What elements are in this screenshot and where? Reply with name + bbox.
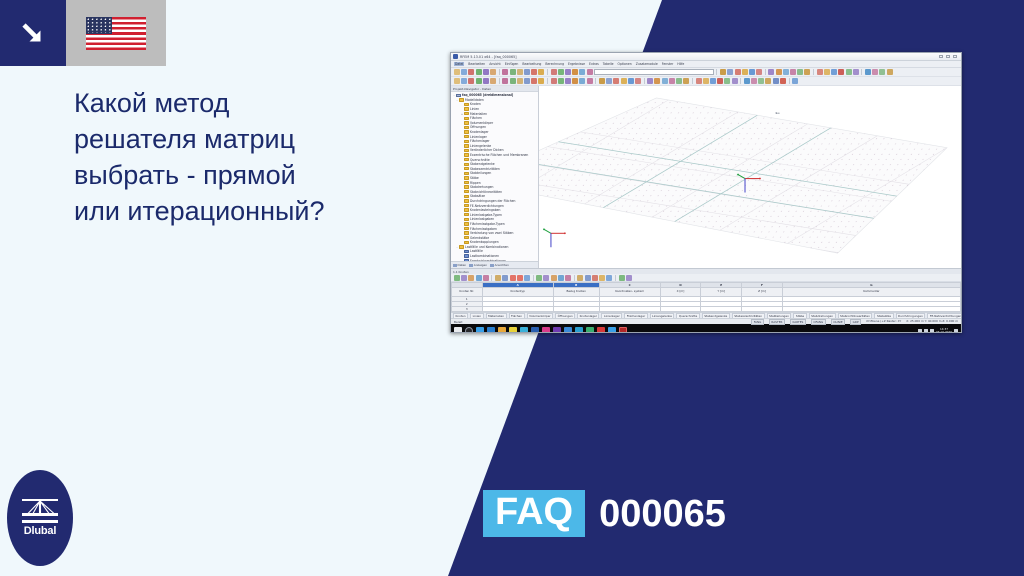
folder-icon (464, 218, 469, 221)
tree-item-label: Öffnungen (470, 125, 486, 129)
menu-item-berechnung[interactable]: Berechnung (545, 62, 564, 66)
toolbar-button-22[interactable] (720, 69, 726, 75)
toolbar-button-43[interactable] (744, 78, 750, 84)
module-icon (464, 254, 469, 257)
tree-item-label: Lastfälle (470, 249, 483, 253)
toolbar-button-6[interactable] (490, 69, 496, 75)
search-icon[interactable] (465, 327, 473, 334)
toolbar-button-9[interactable] (510, 69, 516, 75)
chevron-up-icon[interactable] (918, 329, 922, 333)
toolbar-separator (789, 78, 790, 84)
folder-icon (464, 204, 469, 207)
tree-item-label: Stabteilungen (470, 171, 491, 175)
taskbar-outlook-icon[interactable] (575, 327, 583, 334)
status-toggle-fang[interactable]: FANG (751, 319, 764, 325)
toolbar-button-23[interactable] (727, 69, 733, 75)
taskbar-cortana-icon[interactable] (476, 327, 484, 334)
navigator-tab-anzeigen[interactable]: Anzeigen (469, 263, 487, 267)
toolbar-button-10[interactable] (517, 78, 523, 84)
table-toolbar-button-10[interactable] (517, 275, 523, 281)
sheet-tab[interactable]: Stabnichtlinearitäten (838, 313, 873, 319)
sheet-tab[interactable]: Öffnungen (555, 313, 575, 319)
toolbar-button-30[interactable] (776, 69, 782, 75)
tree-item-label: Knoten (470, 102, 481, 106)
table-toolbar-button-13[interactable] (536, 275, 542, 281)
toolbar-button-37[interactable] (824, 69, 830, 75)
viewport-grid (539, 86, 961, 267)
status-toggle-olinie[interactable]: OLINIE (831, 319, 845, 325)
load-case-combo[interactable] (594, 69, 714, 75)
toolbar-button-25[interactable] (742, 69, 748, 75)
tree-item-label: Flächenlager (470, 139, 490, 143)
rfem-screenshot-window: RFEM 5.13.01 x64 - [faq_000065] DateiBea… (450, 52, 962, 333)
taskbar-photos-icon[interactable] (553, 327, 561, 334)
toolbar-button-33[interactable] (676, 78, 682, 84)
toolbar-button-17[interactable] (565, 69, 571, 75)
sheet-tab[interactable]: Stabsätze (874, 313, 893, 319)
toolbar-button-6[interactable] (490, 78, 496, 84)
toolbar-button-46[interactable] (887, 69, 893, 75)
menu-item-extras[interactable]: Extras (589, 62, 599, 66)
toolbar-button-19[interactable] (579, 69, 585, 75)
taskbar-mail-icon[interactable] (531, 327, 539, 334)
tree-item-label: faq_000065 [dreidimensional] (462, 93, 513, 97)
sheet-tab[interactable]: Materialien (486, 313, 507, 319)
tree-item[interactable]: Exzentrische Flächen und Membranen (452, 153, 538, 158)
table-toolbar-separator (615, 275, 616, 281)
rfem-app-icon (453, 54, 458, 59)
menu-item-hilfe[interactable]: Hilfe (677, 62, 684, 66)
sheet-tab[interactable]: Flächen (509, 313, 525, 319)
menu-item-einfgen[interactable]: Einfügen (505, 62, 519, 66)
dlubal-logo: Dlubal (7, 470, 73, 566)
sheet-tab[interactable]: Stabdrehungen (809, 313, 836, 319)
toolbar-button-24[interactable] (613, 78, 619, 84)
minimize-icon[interactable] (939, 55, 943, 58)
status-right-group[interactable]: FANGRASTERKARTESOFANGOLINIEGRPXY-Ebene (… (751, 319, 958, 325)
toolbar-button-36[interactable] (696, 78, 702, 84)
folder-icon (464, 236, 469, 239)
module-icon (464, 250, 469, 253)
sheet-tab[interactable]: Durchdringungen (896, 313, 926, 319)
data-grid[interactable]: ABCDEFGKnoten Nr.KnotentypBezug KnotenKo… (451, 282, 961, 312)
menu-item-ansicht[interactable]: Ansicht (489, 62, 500, 66)
dlubal-wordmark: Dlubal (24, 525, 56, 537)
folder-icon (464, 199, 469, 202)
grid-cell[interactable] (482, 307, 553, 312)
taskbar-recorder-icon[interactable] (619, 327, 627, 334)
toolbar-separator (644, 78, 645, 84)
toolbar-button-8[interactable] (502, 78, 508, 84)
sheet-tab[interactable]: Liniengelenke (650, 313, 675, 319)
grid-column-header: Koordinaten- system (599, 288, 660, 297)
network-icon[interactable] (924, 329, 928, 333)
toolbar-button-40[interactable] (846, 69, 852, 75)
toolbar-button-26[interactable] (628, 78, 634, 84)
window-controls[interactable] (939, 55, 959, 58)
tree-item-label: Linien (470, 107, 479, 111)
folder-icon (464, 140, 469, 143)
toolbar-button-34[interactable] (804, 69, 810, 75)
sheet-tab[interactable]: FE-Netzverdichtungen (927, 313, 961, 319)
tree-item-label: Verbindung von zwei Stäben (470, 231, 513, 235)
toolbar-button-11[interactable] (524, 78, 530, 84)
sheet-tab[interactable]: Knoten (453, 313, 468, 319)
tree-item-label: Flächen (470, 116, 482, 120)
tree-item-label: Linienlastgaben (470, 217, 494, 221)
taskbar-settings-icon[interactable] (608, 327, 616, 334)
table-toolbar-button-3[interactable] (468, 275, 474, 281)
toolbar-button-12[interactable] (531, 78, 537, 84)
table-toolbar-button-4[interactable] (476, 275, 482, 281)
toolbar-button-4[interactable] (476, 69, 482, 75)
status-info: X: 25.000 m Y: 40.000 m Z: 0.000 m (906, 319, 958, 325)
toolbar-button-2[interactable] (461, 78, 467, 84)
question-line-4: или итерационный? (74, 194, 464, 230)
table-toolbar-button-11[interactable] (524, 275, 530, 281)
table-toolbar-button-9[interactable] (510, 275, 516, 281)
menu-item-ergebnisse[interactable]: Ergebnisse (568, 62, 585, 66)
taskbar-paint-icon[interactable] (564, 327, 572, 334)
table-toolbar-button-5[interactable] (483, 275, 489, 281)
arrow-down-right-icon (0, 0, 66, 66)
table-toolbar[interactable] (451, 274, 961, 282)
tree-item-label: Materialien (470, 112, 487, 116)
rfem-main-area: Projekt-Navigator - Daten -faq_000065 [d… (451, 86, 961, 268)
toolbar-button-32[interactable] (669, 78, 675, 84)
sheet-tab[interactable]: Stabendgelenke (702, 313, 730, 319)
table-sheet-tabs[interactable]: KnotenLinienMaterialienFlächenVolumenkör… (451, 312, 961, 318)
toolbar-button-18[interactable] (572, 78, 578, 84)
menu-item-fenster[interactable]: Fenster (662, 62, 673, 66)
table-toolbar-separator (574, 275, 575, 281)
toolbar-button-20[interactable] (587, 78, 593, 84)
table-toolbar-button-15[interactable] (551, 275, 557, 281)
toolbar-button-40[interactable] (724, 78, 730, 84)
toolbar-button-13[interactable] (538, 69, 544, 75)
faq-number: 000065 (599, 495, 726, 533)
folder-icon (464, 208, 469, 211)
folder-icon (464, 176, 469, 179)
menu-item-optionen[interactable]: Optionen (618, 62, 632, 66)
project-navigator-panel: Projekt-Navigator - Daten -faq_000065 [d… (451, 86, 539, 268)
toolbar-button-29[interactable] (768, 69, 774, 75)
table-toolbar-separator (533, 275, 534, 281)
toolbar-button-18[interactable] (572, 69, 578, 75)
folder-icon (464, 241, 469, 244)
status-toggle-ofang[interactable]: OFANG (811, 319, 826, 325)
folder-icon (464, 213, 469, 216)
table-toolbar-button-2[interactable] (461, 275, 467, 281)
navigator-tab-daten[interactable]: Daten (453, 263, 466, 267)
toolbar-button-27[interactable] (756, 69, 762, 75)
toolbar-button-43[interactable] (865, 69, 871, 75)
grid-column-header: Bezug Knoten (553, 288, 599, 297)
toolbar-button-25[interactable] (621, 78, 627, 84)
toolbar-button-16[interactable] (558, 69, 564, 75)
table-toolbar-button-22[interactable] (599, 275, 605, 281)
us-flag-graphic (86, 17, 146, 50)
toolbar-separator (740, 78, 741, 84)
tree-item-label: Liniengelenke (470, 144, 491, 148)
tree-item-label: Stabendgelenke (470, 162, 495, 166)
toolbar-button-31[interactable] (783, 69, 789, 75)
tree-item-label: Exzentrische Flächen und Membranen (470, 153, 528, 157)
toolbar-button-37[interactable] (703, 78, 709, 84)
sheet-tab[interactable]: Stabteilungen (767, 313, 792, 319)
sheet-tab[interactable]: Volumenkörper (527, 313, 554, 319)
toolbar-button-3[interactable] (468, 78, 474, 84)
folder-icon (464, 163, 469, 166)
toolbar-button-38[interactable] (831, 69, 837, 75)
pointer-cursor-icon: ➳ (775, 110, 780, 117)
taskbar-task-view-icon[interactable] (487, 327, 495, 334)
table-toolbar-button-8[interactable] (502, 275, 508, 281)
rfem-toolbar-row-1[interactable] (451, 68, 961, 77)
table-row[interactable]: 3 (452, 307, 961, 312)
toolbar-button-17[interactable] (565, 78, 571, 84)
tree-item-label: Linienlager (470, 135, 487, 139)
tree-item-label: Querschnitte (470, 158, 490, 162)
toolbar-button-9[interactable] (510, 78, 516, 84)
toolbar-button-1[interactable] (454, 78, 460, 84)
rfem-window-title: RFEM 5.13.01 x64 - [faq_000065] (460, 55, 517, 59)
grid-cell[interactable] (782, 307, 960, 312)
tab-icon (469, 264, 473, 267)
toolbar-button-45[interactable] (879, 69, 885, 75)
table-toolbar-button-1[interactable] (454, 275, 460, 281)
sheet-tab[interactable]: Stabexzentrizitäten (732, 313, 765, 319)
toolbar-button-26[interactable] (749, 69, 755, 75)
taskbar-rfem-icon[interactable] (586, 327, 594, 334)
tree-item-label: Gelenkstäbe (470, 236, 489, 240)
table-toolbar-button-25[interactable] (619, 275, 625, 281)
toolbar-button-41[interactable] (732, 78, 738, 84)
folder-icon (464, 144, 469, 147)
toolbar-button-8[interactable] (502, 69, 508, 75)
tree-item-label: Knotenlager (470, 130, 489, 134)
toolbar-button-31[interactable] (662, 78, 668, 84)
folder-icon (464, 112, 469, 115)
rfem-menu-bar[interactable]: DateiBearbeitenAnsichtEinfügenBearbeitun… (451, 61, 961, 68)
tree-item-label: Flächenlastgaben (470, 227, 497, 231)
tree-item-label: Flächenlastgabe-Typen (470, 222, 505, 226)
toolbar-button-39[interactable] (838, 69, 844, 75)
folder-icon (464, 158, 469, 161)
windows-start-icon[interactable] (454, 327, 462, 334)
page-title: Какой метод решателя матриц выбрать - пр… (74, 86, 464, 230)
toolbar-button-15[interactable] (551, 69, 557, 75)
windows-taskbar[interactable]: 14:37 06.10.2020 (451, 324, 961, 333)
toolbar-button-44[interactable] (751, 78, 757, 84)
tree-item-label: Knotenkopplungen (470, 240, 499, 244)
navigator-tree[interactable]: -faq_000065 [dreidimensional]-Modelldate… (451, 92, 538, 261)
toolbar-button-16[interactable] (558, 78, 564, 84)
toolbar-separator (716, 69, 717, 75)
grid-column-header: X [m] (660, 288, 701, 297)
toolbar-button-15[interactable] (551, 78, 557, 84)
toolbar-separator (765, 69, 766, 75)
toolbar-button-23[interactable] (606, 78, 612, 84)
folder-icon (464, 117, 469, 120)
volume-icon[interactable] (930, 329, 934, 333)
question-line-1: Какой метод (74, 86, 464, 122)
tree-item-label: Rippen (470, 181, 481, 185)
sheet-tab[interactable]: Linienlager (601, 313, 622, 319)
grid-column-header: Knotentyp (482, 288, 553, 297)
flag-canton (86, 17, 112, 35)
toolbar-button-46[interactable] (765, 78, 771, 84)
toolbar-button-4[interactable] (476, 78, 482, 84)
table-toolbar-button-23[interactable] (606, 275, 612, 281)
navigator-tab-label: Anzeigen (474, 263, 487, 267)
taskbar-clock[interactable]: 14:37 06.10.2020 (936, 328, 952, 333)
status-toggle-raster[interactable]: RASTER (769, 319, 785, 325)
toolbar-separator (861, 69, 862, 75)
tree-item-label: Linienlastgabe-Typen (470, 213, 502, 217)
folder-icon (459, 245, 464, 248)
toolbar-separator (547, 78, 548, 84)
clock-date: 06.10.2020 (936, 330, 952, 334)
toolbar-button-48[interactable] (780, 78, 786, 84)
toolbar-button-24[interactable] (735, 69, 741, 75)
taskbar-word-icon[interactable] (542, 327, 550, 334)
navigator-tab-ansichten[interactable]: Ansichten (490, 263, 509, 267)
folder-icon (464, 130, 469, 133)
sheet-tab[interactable]: Querschnitte (676, 313, 699, 319)
toolbar-button-11[interactable] (524, 69, 530, 75)
question-line-2: решателя матриц (74, 122, 464, 158)
menu-item-bearbeiten[interactable]: Bearbeiten (468, 62, 485, 66)
toolbar-button-5[interactable] (483, 78, 489, 84)
toolbar-button-5[interactable] (483, 69, 489, 75)
tree-item-label: Stabsätze (470, 194, 485, 198)
table-toolbar-button-7[interactable] (495, 275, 501, 281)
table-toolbar-button-14[interactable] (543, 275, 549, 281)
toolbar-button-39[interactable] (717, 78, 723, 84)
rfem-toolbar-row-2[interactable] (451, 77, 961, 86)
tree-item-label: Stabnichtlinearitäten (470, 190, 502, 194)
model-viewport[interactable]: ➳ (539, 86, 961, 268)
folder-icon (464, 172, 469, 175)
notifications-icon[interactable] (954, 329, 958, 333)
maximize-icon[interactable] (946, 55, 950, 58)
toolbar-button-27[interactable] (635, 78, 641, 84)
table-toolbar-button-20[interactable] (585, 275, 591, 281)
menu-item-bearbeitung[interactable]: Bearbeitung (522, 62, 541, 66)
grid-cell[interactable]: 3 (452, 307, 483, 312)
toolbar-button-13[interactable] (538, 78, 544, 84)
corner-axis-triad (543, 228, 566, 247)
toolbar-separator (499, 78, 500, 84)
tree-item-label: Modelldaten (465, 98, 484, 102)
toolbar-button-44[interactable] (872, 69, 878, 75)
grid-cell[interactable] (742, 307, 783, 312)
sheet-tab[interactable]: Linien (470, 313, 484, 319)
taskbar-rstab-icon[interactable] (597, 327, 605, 334)
toolbar-button-34[interactable] (683, 78, 689, 84)
toolbar-button-12[interactable] (531, 69, 537, 75)
toolbar-button-10[interactable] (517, 69, 523, 75)
grid-column-header: Kommentar (782, 288, 960, 297)
toolbar-button-19[interactable] (579, 78, 585, 84)
navigator-tab-label: Daten (458, 263, 467, 267)
sheet-tab[interactable]: Flächenlager (624, 313, 647, 319)
toolbar-button-41[interactable] (853, 69, 859, 75)
table-panel: 1.1 Knoten ABCDEFGKnoten Nr.KnotentypBez… (451, 268, 961, 318)
status-toggle-kartes[interactable]: KARTES (790, 319, 806, 325)
tree-item-label: FE-Netzverdichtungen (470, 204, 504, 208)
status-info: XY-Ebene (+Z Raster: XY (866, 319, 901, 325)
tree-item-label: Lastfälle und Kombinationen (465, 245, 509, 249)
toolbar-separator (692, 78, 693, 84)
tree-item-label: Lastkombinationen (470, 254, 499, 258)
toolbar-button-32[interactable] (790, 69, 796, 75)
toolbar-button-36[interactable] (817, 69, 823, 75)
toolbar-button-33[interactable] (797, 69, 803, 75)
taskbar-store-icon[interactable] (520, 327, 528, 334)
sheet-tab[interactable]: Knotenlager (577, 313, 599, 319)
tree-item-label: Veränderlicher Dicken (470, 148, 504, 152)
table-toolbar-button-26[interactable] (626, 275, 632, 281)
toolbar-button-38[interactable] (710, 78, 716, 84)
folder-icon (464, 167, 469, 170)
navigator-tab-strip[interactable]: DatenAnzeigenAnsichten (451, 261, 538, 268)
table-toolbar-button-16[interactable] (558, 275, 564, 281)
menu-item-tabelle[interactable]: Tabelle (603, 62, 614, 66)
table-toolbar-button-21[interactable] (592, 275, 598, 281)
grid-cell[interactable] (660, 307, 701, 312)
toolbar-button-29[interactable] (647, 78, 653, 84)
grid-column-header: Y [m] (701, 288, 742, 297)
taskbar-explorer-icon[interactable] (509, 327, 517, 334)
folder-icon (464, 103, 469, 106)
toolbar-button-2[interactable] (461, 69, 467, 75)
toolbar-button-30[interactable] (654, 78, 660, 84)
status-toggle-grp[interactable]: GRP (850, 319, 861, 325)
bridge-truss-icon (22, 499, 58, 523)
toolbar-separator (813, 69, 814, 75)
table-toolbar-button-17[interactable] (565, 275, 571, 281)
top-left-badges (0, 0, 166, 66)
folder-icon (464, 222, 469, 225)
toolbar-button-45[interactable] (758, 78, 764, 84)
toolbar-button-22[interactable] (599, 78, 605, 84)
grid-cell[interactable] (701, 307, 742, 312)
folder-icon (464, 227, 469, 230)
folder-icon (464, 185, 469, 188)
menu-item-datei[interactable]: Datei (454, 62, 464, 66)
sheet-tab[interactable]: Stäbe (793, 313, 806, 319)
toolbar-button-47[interactable] (773, 78, 779, 84)
grid-cell[interactable] (599, 307, 660, 312)
taskbar-edge-icon[interactable] (498, 327, 506, 334)
folder-icon (464, 135, 469, 138)
grid-column-header: Knoten Nr. (452, 288, 483, 297)
tab-icon (453, 264, 457, 267)
menu-item-zusatzmodule[interactable]: Zusatzmodule (636, 62, 658, 66)
toolbar-button-3[interactable] (468, 69, 474, 75)
folder-icon (464, 107, 469, 110)
table-toolbar-button-19[interactable] (577, 275, 583, 281)
close-icon[interactable] (953, 55, 957, 58)
toolbar-button-50[interactable] (792, 78, 798, 84)
system-tray[interactable]: 14:37 06.10.2020 (918, 328, 958, 333)
toolbar-separator (547, 69, 548, 75)
toolbar-button-1[interactable] (454, 69, 460, 75)
grid-cell[interactable] (553, 307, 599, 312)
toolbar-button-20[interactable] (587, 69, 593, 75)
